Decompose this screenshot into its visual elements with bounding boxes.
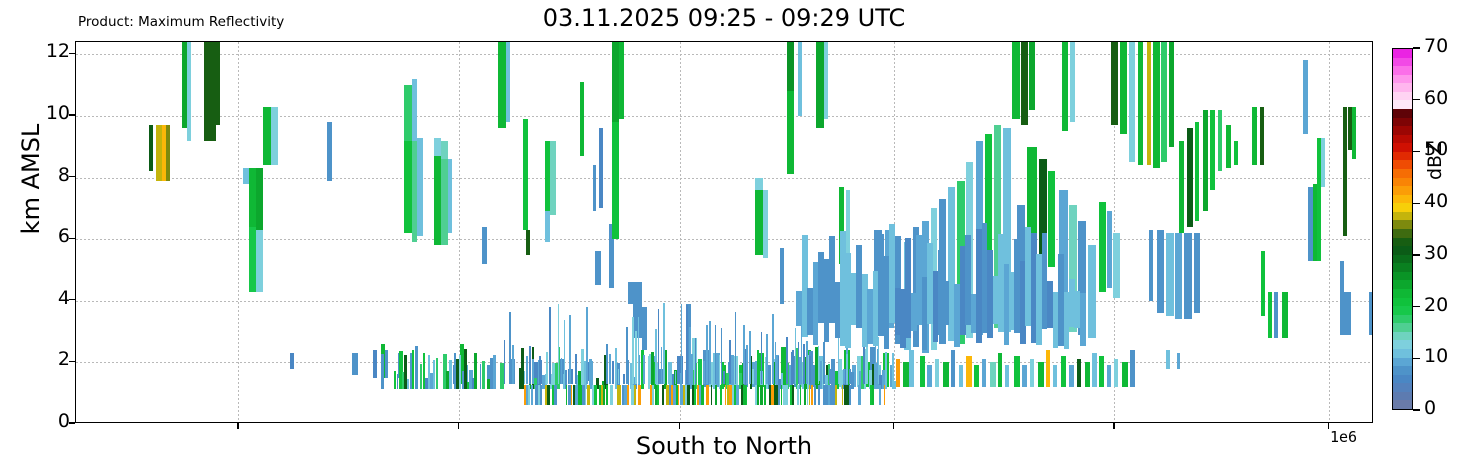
reflectivity-cell	[884, 385, 886, 404]
reflectivity-cell	[781, 385, 782, 404]
reflectivity-cell	[249, 168, 256, 227]
reflectivity-cell	[1129, 42, 1135, 162]
y-tick-label: 6	[58, 225, 70, 247]
reflectivity-cell	[1120, 42, 1127, 134]
colorbar-segment	[1393, 228, 1412, 237]
reflectivity-cell	[792, 350, 794, 384]
reflectivity-cell	[849, 369, 851, 384]
reflectivity-cell	[843, 369, 845, 384]
reflectivity-cell	[772, 314, 774, 384]
reflectivity-cell	[593, 165, 597, 211]
reflectivity-cell	[290, 353, 294, 368]
reflectivity-cell	[187, 42, 191, 141]
reflectivity-cell	[800, 385, 802, 404]
colorbar-segment	[1393, 83, 1412, 92]
reflectivity-cell	[606, 344, 608, 384]
colorbar-tick-mark	[1413, 254, 1420, 255]
colorbar-tick-label: 30	[1424, 242, 1448, 264]
reflectivity-cell	[1203, 110, 1208, 212]
colorbar-segment	[1393, 151, 1412, 160]
reflectivity-cell	[1062, 42, 1067, 131]
reflectivity-cell	[851, 372, 854, 389]
reflectivity-cell	[706, 325, 708, 384]
colorbar-tick-mark	[1413, 151, 1420, 152]
reflectivity-cell	[686, 305, 688, 384]
reflectivity-cell	[1111, 42, 1119, 125]
reflectivity-cell	[615, 348, 617, 389]
colorbar-segment	[1393, 74, 1412, 83]
reflectivity-cell	[760, 385, 763, 404]
reflectivity-cell	[783, 385, 785, 404]
colorbar-tick-label: 70	[1424, 35, 1448, 57]
reflectivity-cell	[982, 359, 986, 387]
reflectivity-cell	[397, 374, 399, 388]
reflectivity-cell	[612, 361, 614, 384]
reflectivity-cell	[550, 141, 556, 215]
reflectivity-cell	[798, 342, 800, 384]
reflectivity-cell	[849, 385, 851, 404]
colorbar-segment	[1393, 348, 1412, 357]
reflectivity-cell	[571, 385, 572, 404]
reflectivity-cell	[434, 156, 440, 245]
reflectivity-cell	[885, 352, 887, 389]
colorbar-tick-label: 40	[1424, 190, 1448, 212]
reflectivity-cell	[216, 42, 221, 125]
colorbar-tick-label: 0	[1424, 397, 1436, 419]
colorbar-tick-label: 10	[1424, 345, 1448, 367]
reflectivity-cell	[381, 354, 384, 389]
reflectivity-cell	[204, 42, 216, 141]
reflectivity-cell	[532, 359, 534, 383]
reflectivity-cell	[1099, 356, 1104, 387]
reflectivity-cell	[798, 42, 803, 116]
x-tick-mark	[458, 423, 459, 429]
reflectivity-cell	[538, 360, 540, 384]
reflectivity-cell	[1092, 353, 1097, 387]
reflectivity-cell	[498, 42, 505, 128]
reflectivity-cell	[327, 122, 332, 181]
reflectivity-cell	[612, 42, 619, 122]
reflectivity-cell	[626, 327, 628, 384]
reflectivity-cell	[587, 385, 590, 404]
colorbar-segment	[1393, 134, 1412, 143]
reflectivity-cell	[1161, 42, 1167, 162]
reflectivity-cell	[1107, 211, 1113, 288]
reflectivity-cell	[814, 385, 816, 404]
reflectivity-cell	[1303, 60, 1308, 134]
reflectivity-cell	[404, 85, 411, 140]
reflectivity-cell	[729, 340, 731, 384]
y-tick-label: 10	[46, 102, 70, 124]
reflectivity-cell	[1187, 128, 1193, 227]
reflectivity-cell	[627, 385, 629, 404]
reflectivity-cell	[1046, 350, 1051, 387]
colorbar-segment	[1393, 323, 1412, 332]
reflectivity-cell	[818, 385, 820, 404]
reflectivity-cell	[711, 385, 712, 404]
reflectivity-cell	[927, 365, 932, 387]
reflectivity-cell	[778, 356, 780, 384]
y-axis-label: km AMSL	[17, 104, 45, 254]
reflectivity-cell	[703, 361, 705, 384]
reflectivity-cell	[823, 342, 825, 384]
reflectivity-cell	[569, 315, 571, 384]
reflectivity-cell	[263, 107, 271, 166]
colorbar-segment	[1393, 66, 1412, 75]
reflectivity-cell	[959, 365, 963, 387]
reflectivity-cell	[1344, 292, 1351, 335]
reflectivity-cell	[448, 159, 453, 233]
colorbar-segment	[1393, 391, 1412, 400]
reflectivity-cell	[529, 346, 531, 384]
reflectivity-cell	[1053, 365, 1057, 387]
reflectivity-cell	[787, 91, 793, 174]
reflectivity-cell	[547, 385, 550, 404]
reflectivity-cell	[909, 350, 914, 387]
reflectivity-cell	[249, 227, 256, 292]
reflectivity-cell	[524, 371, 526, 384]
reflectivity-cell	[903, 362, 909, 387]
reflectivity-cell	[561, 358, 563, 384]
reflectivity-cell	[786, 337, 788, 384]
reflectivity-cell	[1321, 138, 1325, 187]
colorbar-segment	[1393, 280, 1412, 289]
reflectivity-cell	[528, 385, 529, 404]
reflectivity-cell	[584, 366, 586, 384]
reflectivity-cell	[990, 362, 996, 387]
reflectivity-cell	[746, 345, 748, 384]
reflectivity-cell	[1166, 350, 1170, 368]
reflectivity-cell	[474, 353, 476, 388]
reflectivity-cell	[706, 385, 709, 404]
reflectivity-cell	[681, 304, 683, 384]
reflectivity-cell	[149, 125, 153, 171]
reflectivity-cell	[591, 361, 593, 389]
y-tick-label: 2	[58, 348, 70, 370]
reflectivity-cell	[1149, 230, 1153, 301]
reflectivity-cell	[531, 385, 533, 404]
reflectivity-cell	[595, 251, 601, 285]
reflectivity-cell	[701, 385, 703, 404]
reflectivity-cell	[755, 190, 763, 255]
reflectivity-cell	[566, 385, 567, 404]
reflectivity-cell	[816, 42, 824, 128]
y-tick-label: 0	[58, 410, 70, 432]
x-tick-mark	[679, 423, 680, 429]
reflectivity-cell	[545, 211, 551, 242]
reflectivity-cell	[1070, 42, 1075, 122]
colorbar-tick-mark	[1413, 47, 1420, 48]
reflectivity-cell	[1038, 362, 1044, 387]
reflectivity-cell	[1061, 356, 1066, 387]
reflectivity-cell	[920, 356, 925, 387]
reflectivity-cell	[612, 122, 619, 239]
colorbar-segment	[1393, 117, 1412, 126]
reflectivity-cell	[1194, 233, 1200, 313]
colorbar-segment	[1393, 186, 1412, 195]
reflectivity-cell	[846, 354, 848, 384]
reflectivity-cell	[643, 355, 645, 384]
colorbar-segment	[1393, 271, 1412, 280]
colorbar-segment	[1393, 57, 1412, 66]
reflectivity-cell	[1177, 353, 1180, 368]
reflectivity-cell	[512, 345, 514, 384]
colorbar-segment	[1393, 374, 1412, 383]
reflectivity-cell	[780, 248, 785, 303]
reflectivity-cell	[795, 328, 797, 384]
colorbar-segment	[1393, 288, 1412, 297]
reflectivity-cell	[829, 369, 831, 384]
reflectivity-cell	[951, 350, 956, 387]
reflectivity-cell	[775, 342, 777, 384]
reflectivity-cell	[1268, 292, 1273, 338]
page-title: 03.11.2025 09:25 - 09:29 UTC	[75, 4, 1373, 32]
colorbar-segment	[1393, 220, 1412, 229]
colorbar-segment	[1393, 108, 1412, 117]
reflectivity-cell	[526, 230, 530, 255]
reflectivity-cell	[764, 385, 766, 404]
reflectivity-cell	[806, 341, 808, 384]
reflectivity-cell	[803, 344, 805, 384]
reflectivity-cell	[373, 350, 377, 378]
reflectivity-cell	[1014, 356, 1019, 387]
reflectivity-cell	[1030, 359, 1034, 387]
reflectivity-cell	[256, 230, 262, 292]
x-tick-mark	[1328, 423, 1329, 429]
colorbar-segment	[1393, 177, 1412, 186]
reflectivity-cell	[1252, 107, 1257, 166]
reflectivity-cell	[638, 385, 641, 404]
reflectivity-cell	[698, 359, 703, 387]
reflectivity-cell	[1012, 42, 1020, 119]
reflectivity-cell	[1218, 110, 1222, 172]
reflectivity-cell	[1005, 365, 1009, 387]
reflectivity-cell	[1138, 42, 1143, 165]
reflectivity-cell	[352, 353, 358, 375]
colorbar-segment	[1393, 383, 1412, 392]
reflectivity-cell	[1369, 292, 1373, 335]
colorbar	[1392, 48, 1413, 410]
reflectivity-cell	[766, 334, 768, 384]
reflectivity-cell	[632, 317, 634, 384]
reflectivity-cell	[809, 356, 811, 384]
colorbar-tick-mark	[1413, 306, 1420, 307]
colorbar-segment	[1393, 160, 1412, 169]
reflectivity-cell	[752, 369, 754, 384]
reflectivity-cell	[441, 141, 448, 159]
colorbar-segment	[1393, 48, 1412, 57]
reflectivity-cell	[256, 168, 262, 230]
colorbar-tick-label: 20	[1424, 294, 1448, 316]
reflectivity-cell	[743, 325, 745, 384]
reflectivity-cell	[649, 354, 651, 384]
reflectivity-cell	[546, 352, 548, 384]
reflectivity-cell	[935, 359, 939, 387]
plot-area	[75, 41, 1373, 423]
reflectivity-cell	[1261, 251, 1265, 316]
reflectivity-cell	[818, 346, 820, 383]
x-tick-mark	[237, 423, 238, 429]
reflectivity-cell	[1130, 350, 1135, 387]
reflectivity-cell	[609, 354, 611, 384]
reflectivity-cell	[482, 361, 484, 389]
reflectivity-cell	[792, 385, 793, 404]
colorbar-segment	[1393, 357, 1412, 366]
reflectivity-cell	[480, 364, 482, 388]
x-tick-mark	[1113, 423, 1114, 429]
reflectivity-cell	[558, 304, 560, 384]
reflectivity-cell	[1099, 202, 1106, 291]
reflectivity-cell	[835, 385, 838, 404]
reflectivity-cell	[1166, 233, 1174, 316]
reflectivity-cell	[689, 327, 691, 384]
colorbar-segment	[1393, 246, 1412, 255]
reflectivity-cell	[1343, 107, 1347, 236]
reflectivity-cell	[1114, 359, 1118, 387]
reflectivity-cell	[638, 317, 640, 384]
reflectivity-cell	[662, 385, 664, 404]
reflectivity-cell	[1234, 141, 1239, 166]
reflectivity-cell	[736, 385, 739, 404]
colorbar-segment	[1393, 331, 1412, 340]
reflectivity-cell	[879, 385, 881, 404]
reflectivity-cell	[661, 347, 663, 384]
reflectivity-cell	[1175, 233, 1181, 319]
reflectivity-cell	[723, 371, 725, 384]
reflectivity-cell	[580, 82, 585, 156]
colorbar-tick-mark	[1413, 358, 1420, 359]
reflectivity-cell	[761, 332, 763, 383]
reflectivity-cell	[417, 138, 423, 237]
colorbar-segment	[1393, 297, 1412, 306]
reflectivity-cell	[441, 159, 448, 245]
reflectivity-cell	[271, 107, 278, 166]
reflectivity-cell	[778, 385, 779, 404]
reflectivity-cell	[434, 138, 440, 156]
reflectivity-cell	[449, 360, 452, 389]
reflectivity-cell	[628, 282, 633, 304]
reflectivity-cell	[575, 354, 577, 384]
reflectivity-cell	[966, 356, 971, 387]
reflectivity-cell	[678, 385, 679, 404]
colorbar-segment	[1393, 91, 1412, 100]
colorbar-title: dBZ	[1424, 80, 1446, 180]
y-tick-label: 8	[58, 164, 70, 186]
reflectivity-cell	[504, 340, 506, 384]
reflectivity-cell	[943, 362, 949, 387]
reflectivity-cell	[1274, 292, 1278, 338]
reflectivity-cell	[858, 385, 861, 404]
colorbar-tick-mark	[1413, 409, 1420, 410]
reflectivity-cell	[695, 338, 697, 384]
reflectivity-cell	[385, 350, 388, 378]
reflectivity-cell	[1021, 42, 1028, 125]
reflectivity-cell	[1195, 122, 1200, 221]
reflectivity-cell	[586, 307, 588, 384]
reflectivity-cell	[725, 385, 726, 404]
reflectivity-cell	[746, 385, 748, 404]
reflectivity-cell	[1179, 141, 1184, 233]
reflectivity-cell	[1282, 292, 1288, 338]
colorbar-segment	[1393, 340, 1412, 349]
reflectivity-cell	[1153, 42, 1159, 168]
reflectivity-cell	[1169, 42, 1174, 147]
colorbar-segment	[1393, 237, 1412, 246]
reflectivity-cell	[1022, 365, 1027, 387]
reflectivity-cell	[755, 178, 763, 190]
reflectivity-cell	[1088, 245, 1095, 337]
reflectivity-cell	[540, 385, 542, 404]
reflectivity-cell	[1113, 233, 1119, 298]
colorbar-segment	[1393, 211, 1412, 220]
colorbar-segment	[1393, 203, 1412, 212]
y-tick-label: 12	[46, 40, 70, 62]
reflectivity-cell	[509, 312, 511, 384]
reflectivity-cell	[506, 42, 511, 122]
reflectivity-cell	[1147, 42, 1152, 165]
reflectivity-cell	[564, 320, 566, 384]
reflectivity-cell	[541, 360, 543, 384]
x-axis-label: South to North	[75, 432, 1373, 460]
reflectivity-cell	[1080, 293, 1086, 346]
colorbar-segment	[1393, 100, 1412, 109]
reflectivity-cell	[720, 385, 722, 404]
reflectivity-cell	[620, 385, 622, 404]
reflectivity-cell	[1210, 110, 1215, 190]
reflectivity-cell	[594, 385, 597, 404]
reflectivity-cell	[892, 353, 894, 384]
reflectivity-cell	[709, 321, 711, 384]
x-tick-mark	[893, 423, 894, 429]
colorbar-segment	[1393, 314, 1412, 323]
reflectivity-cell	[715, 325, 717, 384]
reflectivity-cell	[1184, 233, 1191, 319]
reflectivity-cell	[998, 353, 1003, 387]
reflectivity-cell	[493, 355, 496, 389]
reflectivity-cell	[657, 385, 659, 404]
reflectivity-cell	[1352, 107, 1357, 159]
reflectivity-cell	[1260, 107, 1264, 166]
reflectivity-cell	[974, 365, 979, 387]
colorbar-segment	[1393, 126, 1412, 135]
reflectivity-cell	[415, 346, 418, 389]
reflectivity-cell	[1077, 359, 1081, 387]
colorbar-segment	[1393, 254, 1412, 263]
reflectivity-cell	[763, 190, 768, 258]
colorbar-segment	[1393, 168, 1412, 177]
reflectivity-cell	[634, 385, 637, 404]
reflectivity-cell	[663, 303, 665, 384]
reflectivity-cell	[687, 385, 690, 404]
reflectivity-cell	[785, 385, 788, 404]
colorbar-tick-mark	[1413, 99, 1420, 100]
reflectivity-cell	[1029, 42, 1035, 110]
colorbar-segment	[1393, 194, 1412, 203]
reflectivity-cell	[735, 312, 737, 384]
reflectivity-cell	[721, 328, 723, 384]
reflectivity-cell	[749, 331, 751, 384]
reflectivity-cell	[658, 309, 660, 384]
reflectivity-cell	[675, 371, 677, 384]
reflectivity-cell	[610, 385, 613, 404]
reflectivity-cell	[824, 42, 829, 119]
reflectivity-cell	[872, 385, 875, 404]
reflectivity-cell	[404, 141, 411, 233]
reflectivity-cell	[655, 329, 657, 384]
reflectivity-cell	[1157, 230, 1164, 313]
reflectivity-cell	[1107, 365, 1112, 387]
reflectivity-cells	[76, 42, 1372, 422]
